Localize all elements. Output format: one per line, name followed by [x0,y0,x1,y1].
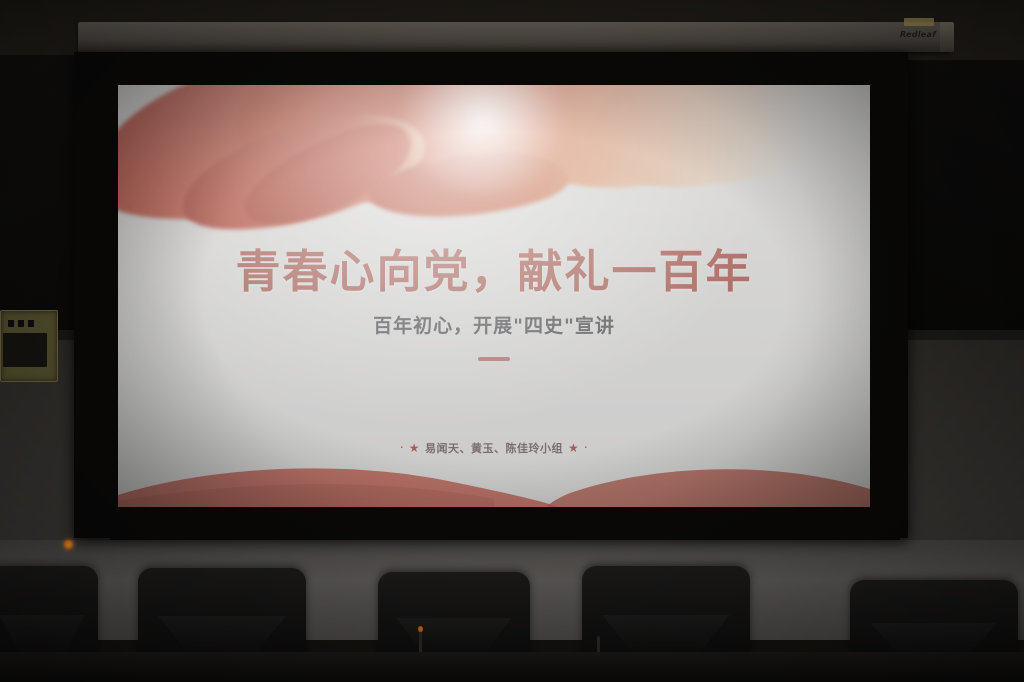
right-dark-wall [900,60,1024,360]
panel-vents-icon [8,320,34,327]
casing-mount-tab [904,18,934,26]
power-indicator-lamp [64,540,73,549]
panel-display [3,333,47,367]
chair-2 [138,568,306,660]
presentation-slide: 青春心向党，献礼一百年 百年初心，开展"四史"宣讲 · ★ 易闻天、黄玉、陈佳玲… [118,85,870,507]
slide-title: 青春心向党，献礼一百年 [118,235,870,300]
conference-table [0,652,1024,682]
classroom-scene: Redleaf 青春心向党，献礼一百年 [0,0,1024,682]
projector-screen-casing[interactable]: Redleaf [78,22,950,52]
chair-3 [378,572,530,660]
chair-1 [0,566,98,660]
right-mid-wall [900,340,1024,550]
divider-dash [478,357,510,361]
bottom-wave-decoration [118,437,870,507]
slide-subtitle: 百年初心，开展"四史"宣讲 [118,311,870,338]
projection-screen-frame: 青春心向党，献礼一百年 百年初心，开展"四史"宣讲 · ★ 易闻天、黄玉、陈佳玲… [74,52,908,538]
casing-endcap [940,22,954,52]
projected-slide-area: 青春心向党，献礼一百年 百年初心，开展"四史"宣讲 · ★ 易闻天、黄玉、陈佳玲… [118,85,870,507]
av-control-panel[interactable] [0,310,58,382]
chair-5 [850,580,1018,662]
microphone-indicator [418,626,423,632]
chair-4 [582,566,750,660]
casing-brand-label: Redleaf [900,30,936,39]
